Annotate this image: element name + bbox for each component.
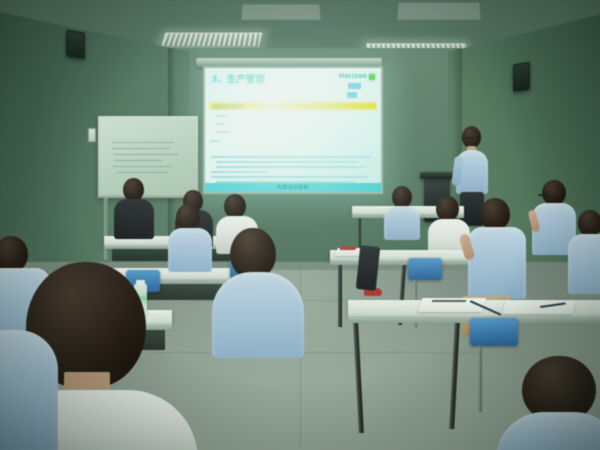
ceiling-light-left <box>159 32 263 48</box>
student-right-glasses-head <box>542 180 566 205</box>
student-far-right-torso <box>568 234 600 294</box>
student-right-front-blue-torso <box>468 227 526 299</box>
whiteboard-marker-tray <box>98 194 194 198</box>
notebook-front-right-a-spine <box>432 300 467 302</box>
student-mid-woman-head <box>230 228 276 278</box>
foreground-shoulder-left <box>0 330 58 450</box>
desk-mid-right-leg-a <box>338 265 342 327</box>
student-right-back-head <box>436 196 459 221</box>
notebook-red-accent <box>339 247 356 250</box>
slide-surface: 3、生产管理 Horizon 内部培训资料 <box>205 68 381 192</box>
projection-screen: 3、生产管理 Horizon 内部培训资料 <box>203 66 383 194</box>
water-bottle-front-cap <box>136 280 145 285</box>
whiteboard-writing-5 <box>112 166 172 167</box>
student-right-glasses-icon <box>538 194 549 196</box>
student-front-left-blue-torso <box>168 228 212 272</box>
chair-mid-right <box>408 258 442 280</box>
floor-seam-2 <box>150 352 480 353</box>
light-louver-left <box>162 33 261 45</box>
whiteboard-writing-1 <box>112 142 174 143</box>
presenter-glasses-icon <box>461 137 474 139</box>
slide-body-line-1 <box>211 156 371 158</box>
whiteboard-stand-leg <box>104 198 108 260</box>
slide-body-line-2 <box>216 161 359 163</box>
wall-speaker-left <box>66 29 85 59</box>
slide-bullet-3 <box>215 131 230 133</box>
whiteboard-writing-4 <box>114 160 162 161</box>
whiteboard-surface <box>100 118 196 196</box>
student-back-dark-head <box>123 178 144 201</box>
student-right-front-blue-head <box>480 198 510 230</box>
student-back-blue-head <box>392 186 412 208</box>
slide-footer-text: 内部培训资料 <box>277 184 309 191</box>
student-front-left-white-head <box>0 236 28 272</box>
whiteboard-writing-3 <box>114 154 178 155</box>
slide-header-bar-label <box>213 104 243 109</box>
student-back-dark-torso <box>114 199 154 239</box>
student-mid-woman-torso <box>212 272 304 358</box>
student-front-left-blue-head <box>176 204 200 230</box>
whiteboard-writing-6 <box>116 172 168 173</box>
classroom-photo: 3、生产管理 Horizon 内部培训资料 <box>0 0 600 450</box>
slide-body-line-5 <box>211 176 368 178</box>
whiteboard <box>98 116 198 198</box>
student-back-blue-torso <box>384 206 420 240</box>
student-mid-white-head <box>224 194 246 218</box>
slide-body-line-4 <box>211 171 269 173</box>
chair-front-right-leg <box>478 346 482 412</box>
wall-speaker-right <box>513 62 530 93</box>
slide-logo-mark-icon <box>369 74 375 80</box>
whiteboard-writing-2 <box>112 148 170 149</box>
chair-front-right <box>470 318 518 346</box>
slide-logo-text: Horizon <box>339 73 367 80</box>
slide-bullet-2 <box>215 123 225 125</box>
ceiling-tile-bright-right <box>397 3 480 20</box>
podium-top <box>420 172 454 179</box>
slide-logo: Horizon <box>339 73 375 80</box>
slide-bullet-4 <box>210 140 221 142</box>
slide-body-line-3 <box>216 166 367 168</box>
ceiling-tile-bright-left <box>241 4 320 19</box>
slide-title: 3、生产管理 <box>212 72 265 85</box>
wall-switch-plate[interactable] <box>88 128 96 142</box>
student-far-right-head <box>578 210 600 236</box>
slide-badge-lower <box>347 92 357 98</box>
slide-badge-upper <box>348 83 361 89</box>
slide-bullet-1 <box>215 115 228 117</box>
